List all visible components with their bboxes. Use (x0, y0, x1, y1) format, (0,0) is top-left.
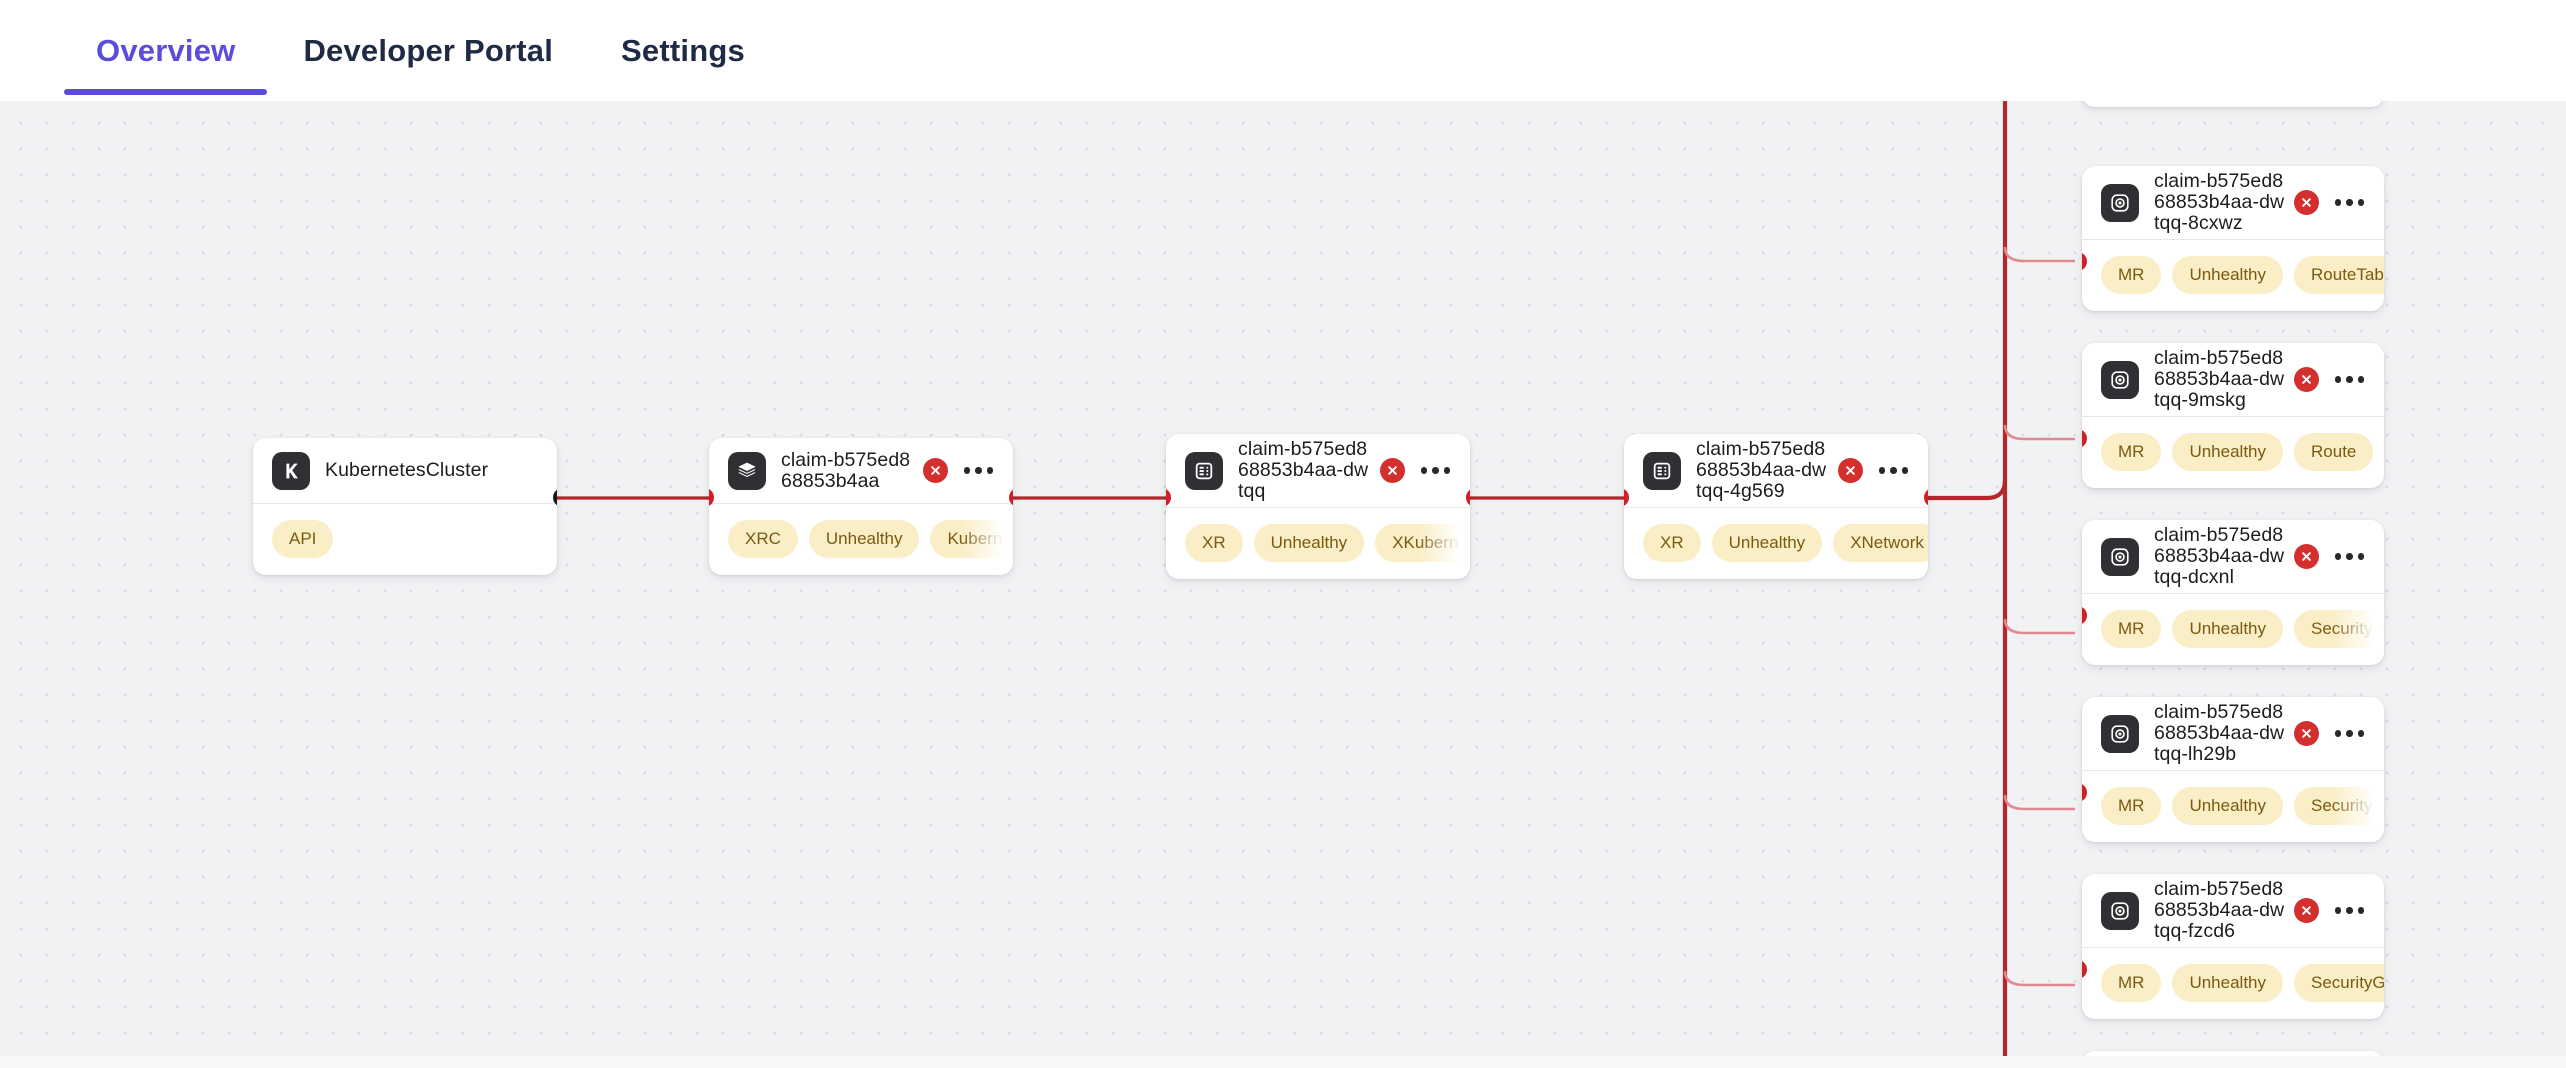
node-header: claim-b575ed868853b4aa-dwtqq-lh29b (2082, 697, 2384, 771)
node-menu-icon[interactable] (2333, 368, 2367, 391)
tab-overview[interactable]: Overview (62, 0, 269, 101)
tag-status: Unhealthy (2172, 256, 2283, 294)
tag-status: Unhealthy (2172, 964, 2283, 1002)
tag-kind: MR (2101, 610, 2161, 648)
main-tab-bar: Overview Developer Portal Settings (0, 0, 2566, 101)
node-tags: API (253, 504, 557, 575)
managed-resource-icon (2101, 361, 2139, 399)
tag-type: Route (2294, 433, 2373, 471)
tag-status: Unhealthy (2172, 787, 2283, 825)
node-header: claim-b575ed868853b4aa-dwtqq-8cxwz (2082, 166, 2384, 240)
node-claim-xrc[interactable]: claim-b575ed868853b4aa XRC Unhealthy Kub… (709, 438, 1013, 575)
tab-settings-label: Settings (621, 33, 745, 69)
error-badge-icon[interactable] (1380, 458, 1405, 483)
node-menu-icon[interactable] (2333, 722, 2367, 745)
error-badge-icon[interactable] (1838, 458, 1863, 483)
node-title: KubernetesCluster (325, 460, 539, 481)
node-tags: XR Unhealthy XKubernetesCluster (1166, 508, 1470, 579)
node-title: claim-b575ed868853b4aa-dwtqq-9mskg (2154, 348, 2294, 411)
tag-kind: API (272, 520, 333, 558)
node-managed-resource-partial-bottom[interactable] (2082, 1051, 2384, 1056)
node-title: claim-b575ed868853b4aa-dwtqq-fzcd6 (2154, 879, 2294, 942)
node-menu-icon[interactable] (2333, 545, 2367, 568)
node-mr-lh29b[interactable]: claim-b575ed868853b4aa-dwtqq-lh29b MR Un… (2082, 697, 2384, 842)
node-tags: MR Unhealthy SecurityGroupRule (2082, 771, 2384, 842)
error-badge-icon[interactable] (2294, 721, 2319, 746)
node-menu-icon[interactable] (962, 459, 996, 482)
kubernetes-logo-icon (272, 452, 310, 490)
error-badge-icon[interactable] (2294, 190, 2319, 215)
node-kubernetescluster[interactable]: KubernetesCluster API (253, 438, 557, 575)
tag-kind: XRC (728, 520, 798, 558)
node-claim-xr-dwtqq[interactable]: claim-b575ed868853b4aa-dwtqq XR Unhealth… (1166, 434, 1470, 579)
node-header: KubernetesCluster (253, 438, 557, 504)
node-title: claim-b575ed868853b4aa (781, 450, 923, 492)
tag-kind: XR (1643, 524, 1701, 562)
tag-status: Unhealthy (809, 520, 920, 558)
composite-resource-icon (1185, 452, 1223, 490)
node-menu-icon[interactable] (2333, 899, 2367, 922)
tag-status: Unhealthy (1712, 524, 1823, 562)
node-tags: XR Unhealthy XNetwork (1624, 508, 1928, 579)
node-mr-9mskg[interactable]: claim-b575ed868853b4aa-dwtqq-9mskg MR Un… (2082, 343, 2384, 488)
node-mr-fzcd6[interactable]: claim-b575ed868853b4aa-dwtqq-fzcd6 MR Un… (2082, 874, 2384, 1019)
managed-resource-icon (2101, 892, 2139, 930)
tag-type: RouteTable (2294, 256, 2384, 294)
managed-resource-icon (2101, 184, 2139, 222)
error-badge-icon[interactable] (2294, 898, 2319, 923)
node-menu-icon[interactable] (1419, 459, 1453, 482)
tag-type: KubernetesCluster (930, 520, 1013, 558)
node-title: claim-b575ed868853b4aa-dwtqq-4g569 (1696, 439, 1838, 502)
node-mr-dcxnl[interactable]: claim-b575ed868853b4aa-dwtqq-dcxnl MR Un… (2082, 520, 2384, 665)
tag-kind: MR (2101, 964, 2161, 1002)
node-title: claim-b575ed868853b4aa-dwtqq (1238, 439, 1380, 502)
node-menu-icon[interactable] (2333, 191, 2367, 214)
composite-resource-icon (1643, 452, 1681, 490)
node-tags: MR Unhealthy RouteTable (2082, 240, 2384, 311)
node-header: claim-b575ed868853b4aa-dwtqq (1166, 434, 1470, 508)
node-title: claim-b575ed868853b4aa-dwtqq-lh29b (2154, 702, 2294, 765)
tab-developer-portal[interactable]: Developer Portal (269, 0, 587, 101)
tag-type: SecurityGroupRule (2294, 787, 2384, 825)
tag-type: SecurityGroupRule (2294, 610, 2384, 648)
tab-overview-label: Overview (96, 33, 235, 69)
node-header: claim-b575ed868853b4aa-dwtqq-4g569 (1624, 434, 1928, 508)
resource-graph-canvas[interactable]: KubernetesCluster API claim-b575ed868853… (0, 101, 2566, 1056)
tag-status: Unhealthy (2172, 610, 2283, 648)
tag-kind: XR (1185, 524, 1243, 562)
layers-icon (728, 452, 766, 490)
node-tags: MR Unhealthy SecurityGroup (2082, 948, 2384, 1019)
tab-developer-portal-label: Developer Portal (303, 33, 553, 69)
node-tags: XRC Unhealthy KubernetesCluster (709, 504, 1013, 575)
managed-resource-icon (2101, 715, 2139, 753)
tag-kind: MR (2101, 433, 2161, 471)
node-header: claim-b575ed868853b4aa (709, 438, 1013, 504)
tag-kind: MR (2101, 256, 2161, 294)
tag-type: SecurityGroup (2294, 964, 2384, 1002)
node-header: claim-b575ed868853b4aa-dwtqq-dcxnl (2082, 520, 2384, 594)
error-badge-icon[interactable] (2294, 544, 2319, 569)
node-tags: MR Unhealthy Route (2082, 417, 2384, 488)
tag-kind: MR (2101, 787, 2161, 825)
node-header: claim-b575ed868853b4aa-dwtqq-9mskg (2082, 343, 2384, 417)
node-claim-xr-4g569[interactable]: claim-b575ed868853b4aa-dwtqq-4g569 XR Un… (1624, 434, 1928, 579)
tab-settings[interactable]: Settings (587, 0, 779, 101)
managed-resource-icon (2101, 538, 2139, 576)
node-mr-8cxwz[interactable]: claim-b575ed868853b4aa-dwtqq-8cxwz MR Un… (2082, 166, 2384, 311)
tag-status: Unhealthy (1254, 524, 1365, 562)
tag-type: XKubernetesCluster (1375, 524, 1470, 562)
tag-status: Unhealthy (2172, 433, 2283, 471)
node-title: claim-b575ed868853b4aa-dwtqq-dcxnl (2154, 525, 2294, 588)
node-menu-icon[interactable] (1877, 459, 1911, 482)
canvas-bottom-strip (0, 1056, 2566, 1068)
node-tags: MR Unhealthy SecurityGroupRule (2082, 594, 2384, 665)
node-header: claim-b575ed868853b4aa-dwtqq-fzcd6 (2082, 874, 2384, 948)
node-title: claim-b575ed868853b4aa-dwtqq-8cxwz (2154, 171, 2294, 234)
tag-type: XNetwork (1833, 524, 1928, 562)
error-badge-icon[interactable] (2294, 367, 2319, 392)
node-managed-resource-partial-top[interactable] (2082, 101, 2384, 107)
error-badge-icon[interactable] (923, 458, 948, 483)
